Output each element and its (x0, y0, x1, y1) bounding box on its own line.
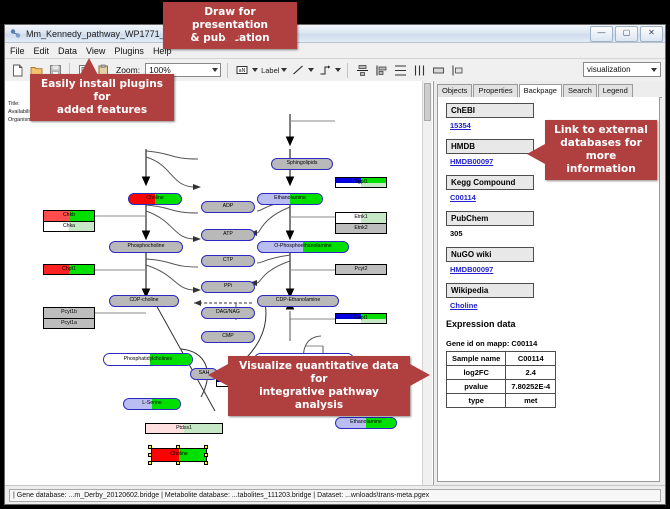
node-label: Phosphocholine (128, 244, 165, 249)
resize-handle-ne[interactable] (204, 445, 208, 449)
visualize-callout-text: Visualize quantitative data for integrat… (239, 360, 399, 411)
svg-text:aN: aN (239, 68, 246, 74)
toolbar-separator (227, 63, 228, 78)
chevron-down-icon (308, 68, 314, 72)
line-tool[interactable] (290, 62, 314, 78)
node-sgpl1[interactable]: Sgpl1 (335, 177, 387, 188)
new-file-icon[interactable] (9, 62, 25, 78)
resize-handle-nw[interactable] (148, 445, 152, 449)
chevron-down-icon (281, 68, 287, 72)
node-label: CTP (223, 258, 233, 263)
node-label: DAG/NAG (216, 310, 240, 315)
node-label: CDP-choline (129, 298, 158, 303)
toolbar-separator (347, 63, 348, 78)
tab-objects[interactable]: Objects (437, 84, 472, 97)
node-ptdss1[interactable]: Ptdss1 (145, 423, 223, 434)
wikipedia-header: Wikipedia (446, 283, 534, 298)
canvas-title-label: Title: (8, 101, 20, 107)
title-bar: Mm_Kennedy_pathway_WP1771_45176.gpml — ▢… (5, 25, 665, 43)
chebi-header: ChEBI (446, 103, 534, 118)
side-panel-tabs: Objects Properties Backpage Search Legen… (437, 83, 662, 98)
node-chka[interactable]: Chka (43, 221, 95, 232)
cell-value: met (506, 394, 556, 408)
tab-search[interactable]: Search (563, 84, 597, 97)
node-choline[interactable]: Choline (128, 193, 182, 205)
stack-tool[interactable] (411, 62, 427, 78)
node-label: Chpt1 (62, 267, 76, 272)
table-row: type met (447, 394, 556, 408)
align-left-tool[interactable] (373, 62, 389, 78)
maximize-button[interactable]: ▢ (615, 26, 638, 42)
expression-table: Sample name C00114 log2FC 2.4 pvalue 7.8… (446, 351, 556, 408)
chevron-down-icon (335, 68, 341, 72)
menu-plugins[interactable]: Plugins (114, 46, 144, 56)
nugo-link[interactable]: HMDB00097 (450, 265, 653, 274)
tab-properties[interactable]: Properties (473, 84, 517, 97)
node-phosphocholine[interactable]: Phosphocholine (109, 241, 183, 253)
node-pcyt1b[interactable]: Pcyt1b (43, 307, 95, 318)
arrow-connector-icon (317, 62, 333, 78)
node-phosphatidylcholines[interactable]: Phosphatidylcholines (103, 353, 193, 366)
node-label: PPi (224, 284, 232, 289)
chevron-down-icon (651, 68, 657, 72)
menu-edit[interactable]: Edit (34, 46, 50, 56)
menu-file[interactable]: File (10, 46, 25, 56)
resize-handle-s[interactable] (176, 461, 180, 465)
cell-label: pvalue (447, 380, 506, 394)
node-cdp-choline[interactable]: CDP-choline (109, 295, 179, 307)
node-label: CMP (222, 334, 234, 339)
canvas-vertical-scrollbar[interactable] (422, 81, 432, 486)
node-label: Choline (146, 196, 164, 201)
node-l-serine-left[interactable]: L-Serine (123, 398, 181, 410)
node-label: CDP-Ethanolamine (276, 298, 320, 303)
expression-data-title: Expression data (446, 319, 653, 329)
canvas-scrollbar-thumb[interactable] (424, 83, 431, 121)
node-label: Ethanolamine (274, 196, 306, 201)
cell-value: 7.80252E-4 (506, 380, 556, 394)
plugins-callout-text: Easily install plugins for added feature… (41, 78, 163, 116)
pubchem-value: 305 (450, 229, 653, 238)
window-controls[interactable]: — ▢ ✕ (590, 26, 663, 42)
minimize-button[interactable]: — (590, 26, 613, 42)
node-chpt1[interactable]: Chpt1 (43, 264, 95, 275)
chevron-down-icon (212, 68, 218, 72)
node-pcyt1a[interactable]: Pcyt1a (43, 318, 95, 329)
node-label: Ethanolamine (350, 420, 382, 425)
node-label: Pcyt1b (61, 310, 77, 315)
hmdb-header: HMDB (446, 139, 534, 154)
node-label: Phosphatidylcholines (124, 357, 173, 362)
node-atp[interactable]: ATP (201, 229, 255, 241)
resize-handle-sw[interactable] (148, 461, 152, 465)
menu-view[interactable]: View (86, 46, 105, 56)
node-label: O-Phosphoethanolamine (274, 244, 331, 249)
cell-label: Sample name (447, 352, 506, 366)
links-callout-text: Link to external databases for more info… (554, 124, 648, 175)
menu-data[interactable]: Data (58, 46, 77, 56)
table-row: log2FC 2.4 (447, 366, 556, 380)
resize-handle-se[interactable] (204, 461, 208, 465)
plugins-callout: Easily install plugins for added feature… (30, 74, 174, 121)
table-row: pvalue 7.80252E-4 (447, 380, 556, 394)
node-cdp-ethanolamine[interactable]: CDP-Ethanolamine (257, 295, 339, 307)
tab-legend[interactable]: Legend (598, 84, 633, 97)
visualize-callout: Visualize quantitative data for integrat… (228, 356, 410, 416)
menu-bar: File Edit Data View Plugins Help (5, 43, 665, 59)
cell-value: 2.4 (506, 366, 556, 380)
node-o-phosphoethanolamine[interactable]: O-Phosphoethanolamine (257, 241, 349, 253)
node-label: Cept1 (354, 316, 368, 321)
close-button[interactable]: ✕ (640, 26, 663, 42)
node-label: Etnk2 (354, 226, 367, 231)
cell-label: type (447, 394, 506, 408)
node-ethanolamine-right[interactable]: Ethanolamine (335, 417, 397, 429)
cell-label: log2FC (447, 366, 506, 380)
node-ppi[interactable]: PPi (201, 281, 255, 293)
node-ctp[interactable]: CTP (201, 255, 255, 267)
node-adp[interactable]: ADP (201, 201, 255, 213)
node-label: Etnk1 (354, 215, 367, 220)
resize-handle-n[interactable] (176, 445, 180, 449)
draw-callout-arrow (222, 33, 240, 47)
node-dag-nag[interactable]: DAG/NAG (201, 307, 255, 319)
plugins-callout-arrow (80, 58, 98, 75)
pathway-canvas[interactable]: Title: Availability: Organism: (5, 81, 434, 486)
gene-id-line: Gene id on mapp: C00114 (446, 339, 653, 348)
visualize-callout-arrow-left (208, 364, 228, 386)
node-label: Ptdss1 (176, 426, 192, 431)
node-label: L-Serine (142, 401, 162, 406)
links-callout: Link to external databases for more info… (545, 120, 657, 180)
resize-handle-e[interactable] (204, 453, 208, 457)
node-label: ATP (223, 232, 233, 237)
visualize-callout-arrow-right (410, 364, 430, 386)
node-chkb[interactable]: Chkb (43, 210, 95, 221)
node-label: Sgpl1 (354, 180, 367, 185)
node-label: Chkb (63, 213, 75, 218)
node-label: Sphingolipids (287, 161, 318, 166)
node-label: ADP (223, 204, 234, 209)
node-label: Chka (63, 224, 75, 229)
kegg-link[interactable]: C00114 (450, 193, 653, 202)
arrow-connector-tool[interactable] (317, 62, 341, 78)
line-icon (290, 62, 306, 78)
status-text: | Gene database: ...m_Derby_20120602.bri… (9, 489, 661, 502)
visualization-combobox[interactable]: visualization (583, 62, 661, 77)
links-callout-arrow (527, 144, 545, 164)
node-label: Pcyt2 (355, 267, 368, 272)
node-cept1[interactable]: Cept1 (335, 313, 387, 324)
cell-value: C00114 (506, 352, 556, 366)
table-row: Sample name C00114 (447, 352, 556, 366)
node-etnk2[interactable]: Etnk2 (335, 223, 387, 234)
node-label: Choline (170, 452, 188, 457)
node-ethanolamine[interactable]: Ethanolamine (257, 193, 323, 205)
kegg-header: Kegg Compound (446, 175, 534, 190)
node-cmp[interactable]: CMP (201, 331, 255, 343)
wikipedia-link[interactable]: Choline (450, 301, 653, 310)
pubchem-header: PubChem (446, 211, 534, 226)
node-choline-selected[interactable]: Choline (151, 448, 207, 462)
pathvisio-icon (10, 28, 21, 39)
node-pcyt2[interactable]: Pcyt2 (335, 264, 387, 275)
datanode-icon: aN (234, 62, 250, 78)
resize-handle-w[interactable] (148, 453, 152, 457)
node-sphingolipids[interactable]: Sphingolipids (271, 158, 333, 170)
visualization-value: visualization (587, 65, 631, 74)
ungroup-tool[interactable] (449, 62, 465, 78)
label-tool[interactable]: Label (261, 66, 287, 75)
distribute-tool[interactable] (392, 62, 408, 78)
align-tool[interactable] (354, 62, 370, 78)
status-bar: | Gene database: ...m_Derby_20120602.bri… (5, 485, 665, 504)
tab-backpage[interactable]: Backpage (519, 84, 562, 98)
datanode-tool[interactable]: aN (234, 62, 258, 78)
node-label: Pcyt1a (61, 321, 77, 326)
node-etnk1[interactable]: Etnk1 (335, 212, 387, 223)
nugo-header: NuGO wiki (446, 247, 534, 262)
label-tool-text: Label (261, 66, 279, 75)
chevron-down-icon (252, 68, 258, 72)
group-tool[interactable] (430, 62, 446, 78)
